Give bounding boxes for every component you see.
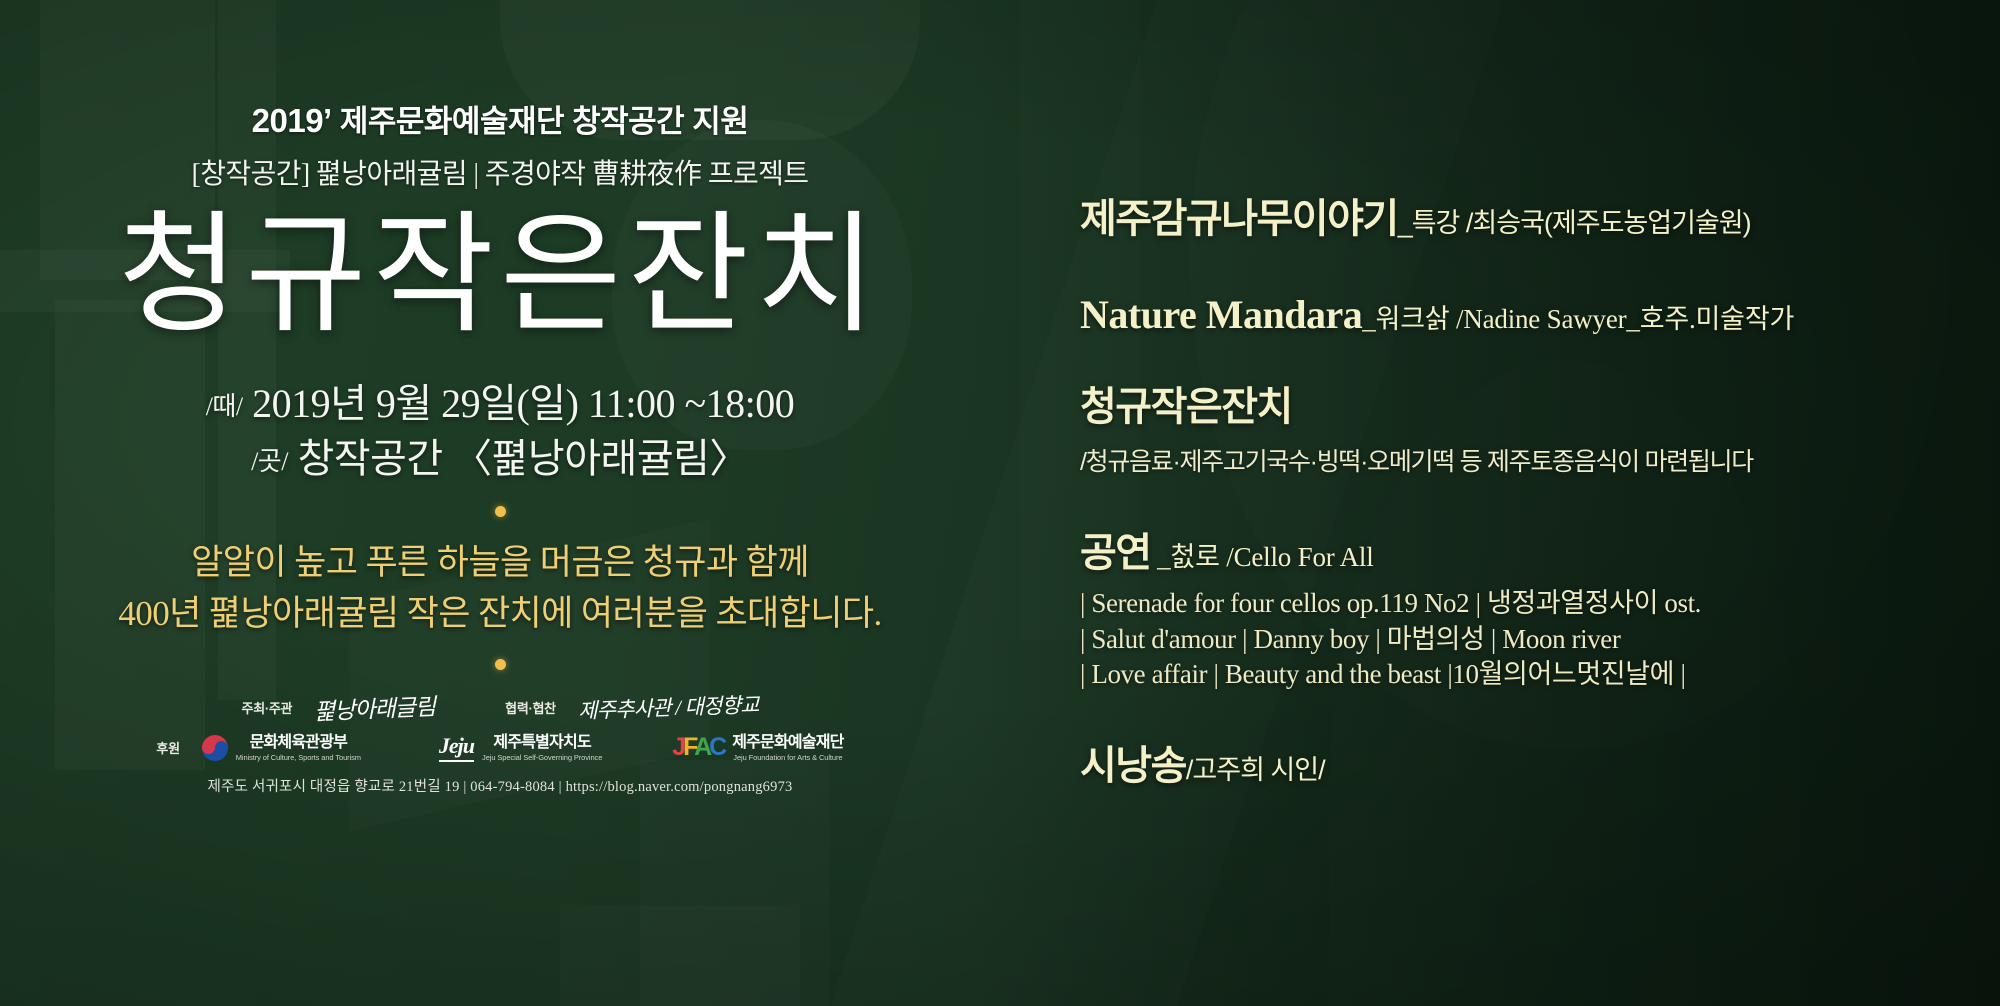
jfac-letter-c: C	[709, 733, 724, 761]
concert-subtitle: _첤로 /Cello For All	[1151, 542, 1374, 572]
jeju-wordmark: Jeju	[439, 733, 474, 762]
logo-mcst: 문화체육관광부 Ministry of Culture, Sports and …	[202, 734, 361, 761]
footer-contact: 제주도 서귀포시 대정읍 향교로 21번길 19 | 064-794-8084 …	[0, 775, 1000, 796]
kicker-year: 2019’	[252, 102, 332, 139]
invitation-line-1: 알알이 높고 푸른 하늘을 머금은 청규과 함께	[0, 537, 1000, 588]
program-item-food: 청규작은잔치 /청규음료·제주고기국수·빙떡·오메기떡 등 제주토종음식이 마련…	[1080, 384, 1980, 478]
support-label: 후원	[156, 738, 179, 757]
where-value: 창작공간 〈폁낭아래귤림〉	[288, 436, 749, 481]
logo-jfac: JFAC 제주문화예술재단 Jeju Foundation for Arts &…	[672, 733, 843, 762]
poetry-title-row: 시낭송/고주희 시인/	[1080, 743, 1980, 789]
workshop-subtitle: _워크삵 /Nadine Sawyer_호주.미술작가	[1362, 304, 1794, 334]
subkicker-line: [창작공간] 폁낭아래귤림 | 주경야작 曹耕夜作 프로젝트	[0, 152, 1000, 192]
dot-separator-top	[495, 506, 506, 517]
jfac-name-en: Jeju Foundation for Arts & Culture	[732, 753, 843, 762]
where-row: /곳/ 창작공간 〈폁낭아래귤림〉	[0, 431, 1000, 486]
food-title: 청규작은잔치	[1080, 384, 1980, 430]
program-item-workshop: Nature Mandara_워크삵 /Nadine Sawyer_호주.미술작…	[1080, 292, 1980, 338]
concert-title: 공연	[1080, 531, 1151, 575]
concert-program-line: | Love affair | Beauty and the beast |10…	[1080, 657, 1980, 693]
concert-program-line: | Serenade for four cellos op.119 No2 | …	[1080, 586, 1980, 622]
kicker-line: 2019’ 제주문화예술재단 창작공간 지원	[0, 96, 1000, 141]
workshop-title-row: Nature Mandara_워크삵 /Nadine Sawyer_호주.미술작…	[1080, 292, 1980, 338]
jfac-wordmark: JFAC	[672, 733, 724, 762]
logo-jeju: Jeju 제주특별자치도 Jeju Special Self-Governing…	[439, 733, 602, 762]
where-tag: /곳/	[251, 447, 288, 476]
sponsor-row-support: 후원 문화체육관광부 Ministry of Culture, Sports a…	[0, 733, 1000, 762]
taegeuk-icon	[202, 735, 228, 761]
poetry-title: 시낭송	[1080, 744, 1186, 788]
host-label: 주최·주관	[242, 698, 293, 717]
invitation-text: 알알이 높고 푸른 하늘을 머금은 청규과 함께 400년 폁낭아래귤림 작은 …	[0, 537, 1000, 639]
jeju-name-ko: 제주특별자치도	[482, 734, 602, 752]
jfac-letter-j: J	[672, 733, 683, 761]
concert-title-row: 공연 _첤로 /Cello For All	[1080, 530, 1980, 576]
mcst-name-en: Ministry of Culture, Sports and Tourism	[236, 753, 361, 762]
jfac-letter-f: F	[683, 733, 694, 761]
host-name: 폁낭아래글림	[314, 688, 436, 727]
invitation-line-2: 400년 폁낭아래귤림 작은 잔치에 여러분을 초대합니다.	[0, 588, 1000, 639]
workshop-title: Nature Mandara	[1080, 292, 1362, 337]
when-value: 2019년 9월 29일(일) 11:00 ~18:00	[243, 381, 795, 426]
jfac-letter-a: A	[694, 733, 709, 761]
poster-canvas: 2019’ 제주문화예술재단 창작공간 지원 [창작공간] 폁낭아래귤림 | 주…	[0, 0, 2000, 1006]
lecture-subtitle: _특강 /최승국(제주도농업기술원)	[1398, 208, 1751, 238]
sponsor-row-host: 주최·주관 폁낭아래글림 협력·협찬 제주추사관 / 대정향교	[0, 690, 1000, 724]
right-column: 제주감규나무이야기_특강 /최승국(제주도농업기술원) Nature Manda…	[1080, 0, 1980, 1006]
dot-separator-bottom	[495, 659, 506, 670]
mcst-name-ko: 문화체육관광부	[236, 734, 361, 752]
sponsor-block: 주최·주관 폁낭아래글림 협력·협찬 제주추사관 / 대정향교 후원 문화체육관…	[0, 690, 1000, 796]
concert-program-line: | Salut d'amour | Danny boy | 마법의성 | Moo…	[1080, 622, 1980, 658]
partner-label: 협력·협찬	[505, 698, 556, 717]
when-row: /때/ 2019년 9월 29일(일) 11:00 ~18:00	[0, 376, 1000, 431]
jfac-name-ko: 제주문화예술재단	[732, 734, 843, 752]
poetry-subtitle: /고주희 시인/	[1186, 755, 1325, 785]
program-item-poetry: 시낭송/고주희 시인/	[1080, 743, 1980, 789]
page-title: 청규작은잔치	[0, 202, 1000, 350]
when-where-block: /때/ 2019년 9월 29일(일) 11:00 ~18:00 /곳/ 창작공…	[0, 376, 1000, 486]
partner-name: 제주추사관 / 대정향교	[577, 689, 759, 725]
program-item-lecture: 제주감규나무이야기_특강 /최승국(제주도농업기술원)	[1080, 196, 1980, 242]
lecture-title: 제주감규나무이야기	[1080, 197, 1398, 241]
program-item-concert: 공연 _첤로 /Cello For All | Serenade for fou…	[1080, 530, 1980, 693]
lecture-title-row: 제주감규나무이야기_특강 /최승국(제주도농업기술원)	[1080, 196, 1980, 242]
concert-program-list: | Serenade for four cellos op.119 No2 | …	[1080, 586, 1980, 693]
jeju-name-en: Jeju Special Self-Governing Province	[482, 753, 602, 762]
left-column: 2019’ 제주문화예술재단 창작공간 지원 [창작공간] 폁낭아래귤림 | 주…	[0, 0, 1000, 1006]
food-description: /청규음료·제주고기국수·빙떡·오메기떡 등 제주토종음식이 마련됩니다	[1080, 442, 1980, 478]
when-tag: /때/	[206, 392, 243, 421]
kicker-rest: 제주문화예술재단 창작공간 지원	[332, 104, 749, 139]
